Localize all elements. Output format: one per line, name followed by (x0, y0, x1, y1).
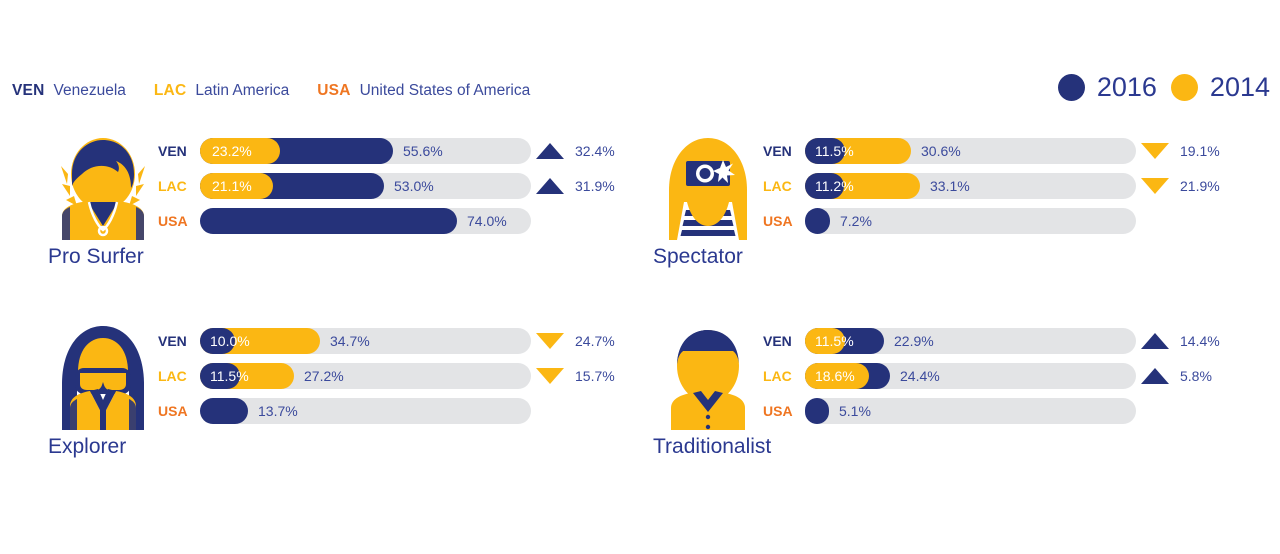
legend-code-ven: VEN (12, 82, 44, 100)
bar-value-2014: 21.1% (212, 173, 252, 199)
persona-name-explorer: Explorer (48, 435, 126, 459)
explorer-avatar-icon (48, 320, 158, 430)
row-label-usa: USA (763, 403, 801, 419)
triangle-down-icon (536, 333, 564, 349)
bars-spectator: VEN 11.5% 30.6% 19.1% LAC 11.2% 33.1% (763, 138, 1136, 243)
bar-2016 (805, 208, 830, 234)
year-legend: 2016 2014 (1058, 74, 1270, 101)
delta-value: 19.1% (1180, 143, 1220, 159)
bar-value-2016: 22.9% (894, 328, 934, 354)
delta-indicator: 31.9% (536, 173, 615, 199)
legend-year-2014-label: 2014 (1210, 74, 1270, 101)
legend-year-2016-label: 2016 (1097, 74, 1157, 101)
bars-pro-surfer: VEN 23.2% 55.6% 32.4% LAC 21.1% 53.0% (158, 138, 531, 243)
delta-indicator: 32.4% (536, 138, 615, 164)
pro-surfer-avatar-icon (48, 130, 158, 240)
bar-value-2014: 23.2% (212, 138, 252, 164)
bar-row-lac: LAC 11.5% 27.2% 15.7% (158, 363, 531, 389)
row-label-ven: VEN (763, 143, 801, 159)
persona-name-spectator: Spectator (653, 245, 743, 269)
bar-row-ven: VEN 11.5% 30.6% 19.1% (763, 138, 1136, 164)
row-label-lac: LAC (763, 178, 801, 194)
triangle-up-icon (1141, 368, 1169, 384)
bar-2016 (200, 208, 457, 234)
bar-value-2014: 11.5% (815, 328, 854, 354)
legend-dot-2016-icon (1058, 74, 1085, 101)
bars-explorer: VEN 10.0% 34.7% 24.7% LAC 11.5% 27.2% (158, 328, 531, 433)
delta-indicator: 24.7% (536, 328, 615, 354)
bar-row-usa: USA 13.7% (158, 398, 531, 424)
bar-row-ven: VEN 10.0% 34.7% 24.7% (158, 328, 531, 354)
persona-name-traditionalist: Traditionalist (653, 435, 771, 459)
bar-value-2016: 11.2% (815, 173, 854, 199)
row-label-usa: USA (763, 213, 801, 229)
legend-name-usa: United States of America (360, 82, 531, 100)
legend-name-ven: Venezuela (53, 82, 125, 100)
bar-track: 7.2% (805, 208, 1136, 234)
bar-row-usa: USA 7.2% (763, 208, 1136, 234)
row-label-ven: VEN (763, 333, 801, 349)
legend-code-usa: USA (317, 82, 350, 100)
bar-row-lac: LAC 21.1% 53.0% 31.9% (158, 173, 531, 199)
delta-value: 32.4% (575, 143, 615, 159)
delta-indicator: 14.4% (1141, 328, 1220, 354)
bar-row-usa: USA 74.0% (158, 208, 531, 234)
bar-track: 11.5% 30.6% (805, 138, 1136, 164)
bar-row-lac: LAC 18.6% 24.4% 5.8% (763, 363, 1136, 389)
delta-value: 21.9% (1180, 178, 1220, 194)
legend-name-lac: Latin America (195, 82, 289, 100)
delta-indicator: 15.7% (536, 363, 615, 389)
legend-year-2016: 2016 (1058, 74, 1157, 101)
bar-track: 11.5% 27.2% (200, 363, 531, 389)
bar-value-2016: 11.5% (815, 138, 854, 164)
triangle-down-icon (536, 368, 564, 384)
bar-value-2014: 33.1% (930, 173, 970, 199)
bar-value-2016: 53.0% (394, 173, 434, 199)
persona-name-pro-surfer: Pro Surfer (48, 245, 144, 269)
bar-track: 11.2% 33.1% (805, 173, 1136, 199)
spectator-avatar-icon (653, 130, 763, 240)
bar-value-2016: 5.1% (839, 398, 871, 424)
bar-value-2016: 13.7% (258, 398, 298, 424)
bars-traditionalist: VEN 11.5% 22.9% 14.4% LAC 18.6% 24.4% (763, 328, 1136, 433)
traditionalist-avatar-icon (653, 320, 763, 430)
bar-value-2014: 30.6% (921, 138, 961, 164)
legend-dot-2014-icon (1171, 74, 1198, 101)
bar-value-2014: 27.2% (304, 363, 344, 389)
bar-track: 5.1% (805, 398, 1136, 424)
bar-value-2016: 11.5% (210, 363, 249, 389)
delta-indicator: 5.8% (1141, 363, 1212, 389)
bar-track: 74.0% (200, 208, 531, 234)
row-label-usa: USA (158, 213, 196, 229)
row-label-lac: LAC (158, 368, 196, 384)
bar-value-2016: 74.0% (467, 208, 507, 234)
delta-indicator: 19.1% (1141, 138, 1220, 164)
legend-code-lac: LAC (154, 82, 186, 100)
triangle-up-icon (536, 178, 564, 194)
triangle-up-icon (1141, 333, 1169, 349)
delta-value: 14.4% (1180, 333, 1220, 349)
bar-value-2014: 34.7% (330, 328, 370, 354)
bar-track: 23.2% 55.6% (200, 138, 531, 164)
delta-value: 24.7% (575, 333, 615, 349)
delta-indicator: 21.9% (1141, 173, 1220, 199)
bar-value-2014: 18.6% (815, 363, 855, 389)
bar-row-ven: VEN 23.2% 55.6% 32.4% (158, 138, 531, 164)
row-label-ven: VEN (158, 143, 196, 159)
bar-value-2016: 55.6% (403, 138, 443, 164)
delta-value: 31.9% (575, 178, 615, 194)
bar-track: 13.7% (200, 398, 531, 424)
bar-track: 11.5% 22.9% (805, 328, 1136, 354)
country-legend: VEN Venezuela LAC Latin America USA Unit… (12, 82, 558, 100)
bar-track: 10.0% 34.7% (200, 328, 531, 354)
bar-track: 18.6% 24.4% (805, 363, 1136, 389)
bar-value-2016: 7.2% (840, 208, 872, 234)
bar-row-ven: VEN 11.5% 22.9% 14.4% (763, 328, 1136, 354)
legend-year-2014: 2014 (1171, 74, 1270, 101)
triangle-down-icon (1141, 143, 1169, 159)
row-label-usa: USA (158, 403, 196, 419)
bar-2016 (200, 398, 248, 424)
row-label-lac: LAC (763, 368, 801, 384)
bar-row-lac: LAC 11.2% 33.1% 21.9% (763, 173, 1136, 199)
bar-row-usa: USA 5.1% (763, 398, 1136, 424)
bar-2016 (805, 398, 829, 424)
delta-value: 15.7% (575, 368, 615, 384)
bar-track: 21.1% 53.0% (200, 173, 531, 199)
row-label-lac: LAC (158, 178, 196, 194)
bar-value-2016: 10.0% (210, 328, 250, 354)
bar-value-2016: 24.4% (900, 363, 940, 389)
delta-value: 5.8% (1180, 368, 1212, 384)
triangle-up-icon (536, 143, 564, 159)
row-label-ven: VEN (158, 333, 196, 349)
triangle-down-icon (1141, 178, 1169, 194)
